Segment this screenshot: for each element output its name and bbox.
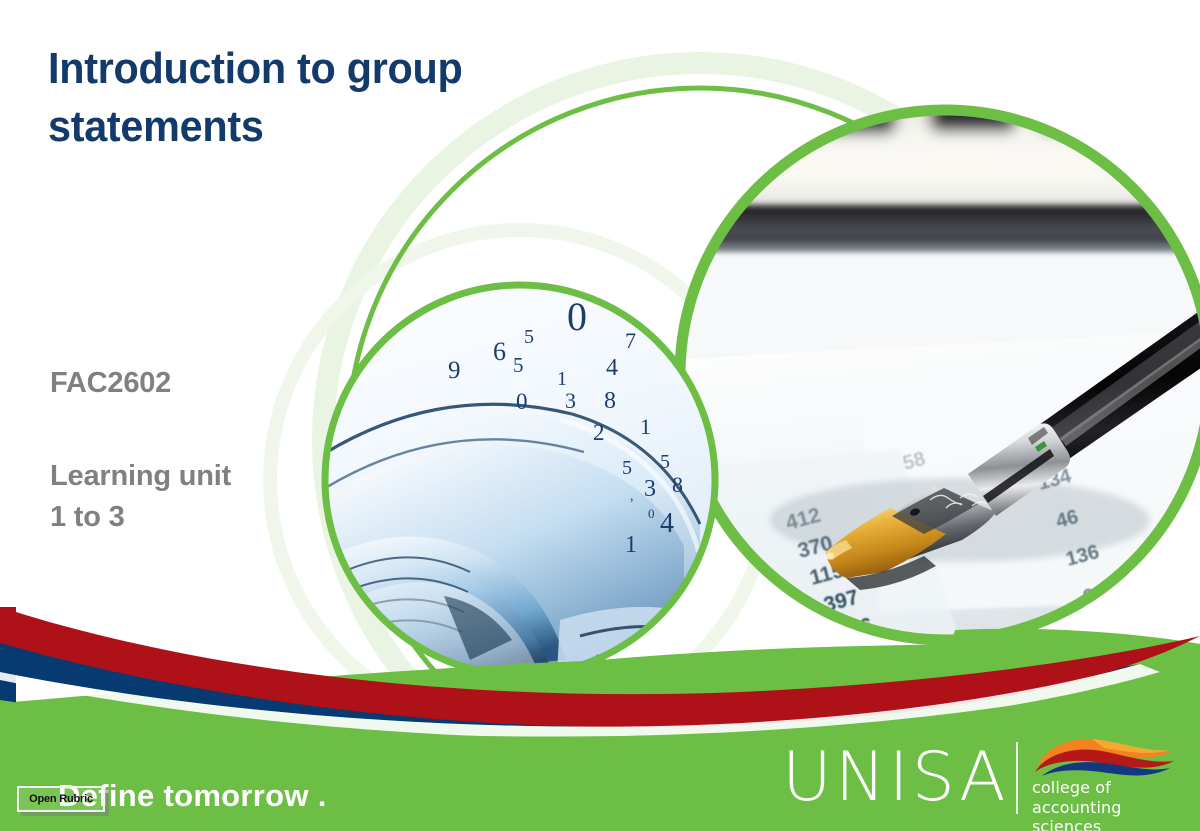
- college-name-label: college of accounting sciences: [1032, 778, 1182, 831]
- open-rubric-button-label: Open Rubric: [29, 793, 93, 805]
- presentation-slide: 412 370 115 397 156 134 46 136 6 58: [0, 0, 1200, 831]
- svg-text:4: 4: [660, 508, 674, 539]
- svg-text:3: 3: [565, 388, 576, 413]
- page-title: Introduction to group statements: [48, 40, 574, 156]
- svg-text:,: ,: [630, 489, 634, 504]
- svg-text:8: 8: [672, 472, 683, 497]
- svg-text:5: 5: [524, 326, 534, 348]
- svg-text:4: 4: [606, 355, 618, 381]
- unisa-logo: UNISA college of accounting sciences: [782, 742, 1182, 822]
- svg-text:0: 0: [516, 389, 528, 414]
- unisa-swoosh-icon: [1030, 734, 1176, 780]
- unisa-wordmark: UNISA: [782, 744, 1009, 812]
- svg-text:1: 1: [640, 414, 651, 439]
- svg-text:8: 8: [604, 388, 616, 414]
- svg-text:1: 1: [625, 532, 637, 558]
- course-code-label: FAC2602: [50, 367, 171, 400]
- svg-text:7: 7: [625, 328, 636, 353]
- learning-unit-label: Learning unit 1 to 3: [50, 456, 231, 538]
- logo-divider: [1016, 742, 1018, 814]
- svg-text:1: 1: [557, 368, 567, 390]
- svg-text:0: 0: [648, 506, 655, 521]
- svg-text:0: 0: [567, 294, 587, 339]
- svg-text:5: 5: [513, 353, 524, 377]
- svg-text:9: 9: [448, 357, 461, 384]
- svg-text:3: 3: [644, 476, 656, 502]
- svg-text:5: 5: [660, 451, 670, 473]
- svg-text:2: 2: [593, 420, 605, 445]
- open-rubric-button[interactable]: Open Rubric: [17, 786, 105, 812]
- svg-text:6: 6: [493, 337, 506, 366]
- svg-text:5: 5: [622, 457, 632, 479]
